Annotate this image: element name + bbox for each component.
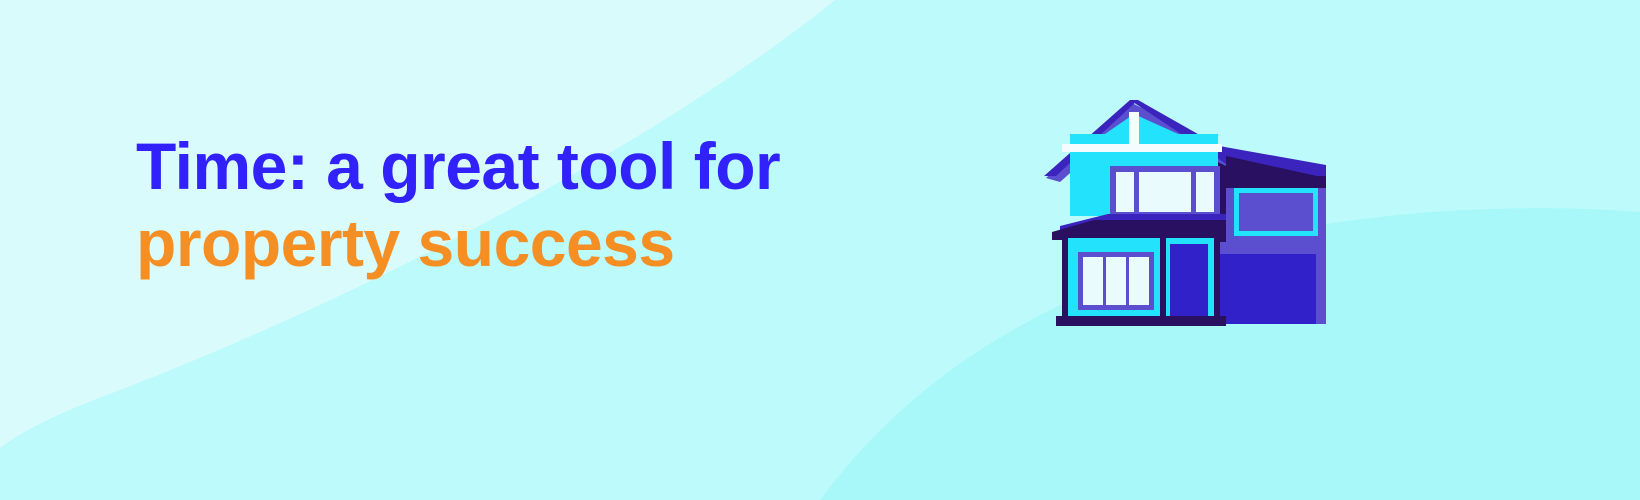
lower-post-right [1214, 238, 1220, 318]
headline-line-accent: property success [136, 205, 780, 282]
house-illustration [1030, 92, 1340, 332]
promo-banner: Time: a great tool for property success [0, 0, 1640, 500]
page-title: Time: a great tool for property success [136, 128, 780, 282]
lower-post-left [1062, 238, 1068, 318]
front-door [1170, 244, 1208, 318]
headline-line-primary: Time: a great tool for [136, 128, 780, 205]
ridge-beam-taper [1062, 144, 1222, 152]
garage-door [1220, 254, 1316, 324]
lower-window-pane-3 [1129, 257, 1149, 305]
upper-window-pane-center [1139, 172, 1191, 212]
right-wing-window-glass [1239, 193, 1313, 231]
upper-window-pane-left [1116, 172, 1134, 212]
lower-post-mid [1160, 238, 1166, 318]
ridge-post [1129, 112, 1139, 148]
upper-window-pane-right [1196, 172, 1214, 212]
house-base [1056, 316, 1226, 326]
lower-window-pane-1 [1083, 257, 1103, 305]
lower-window-pane-2 [1106, 257, 1126, 305]
